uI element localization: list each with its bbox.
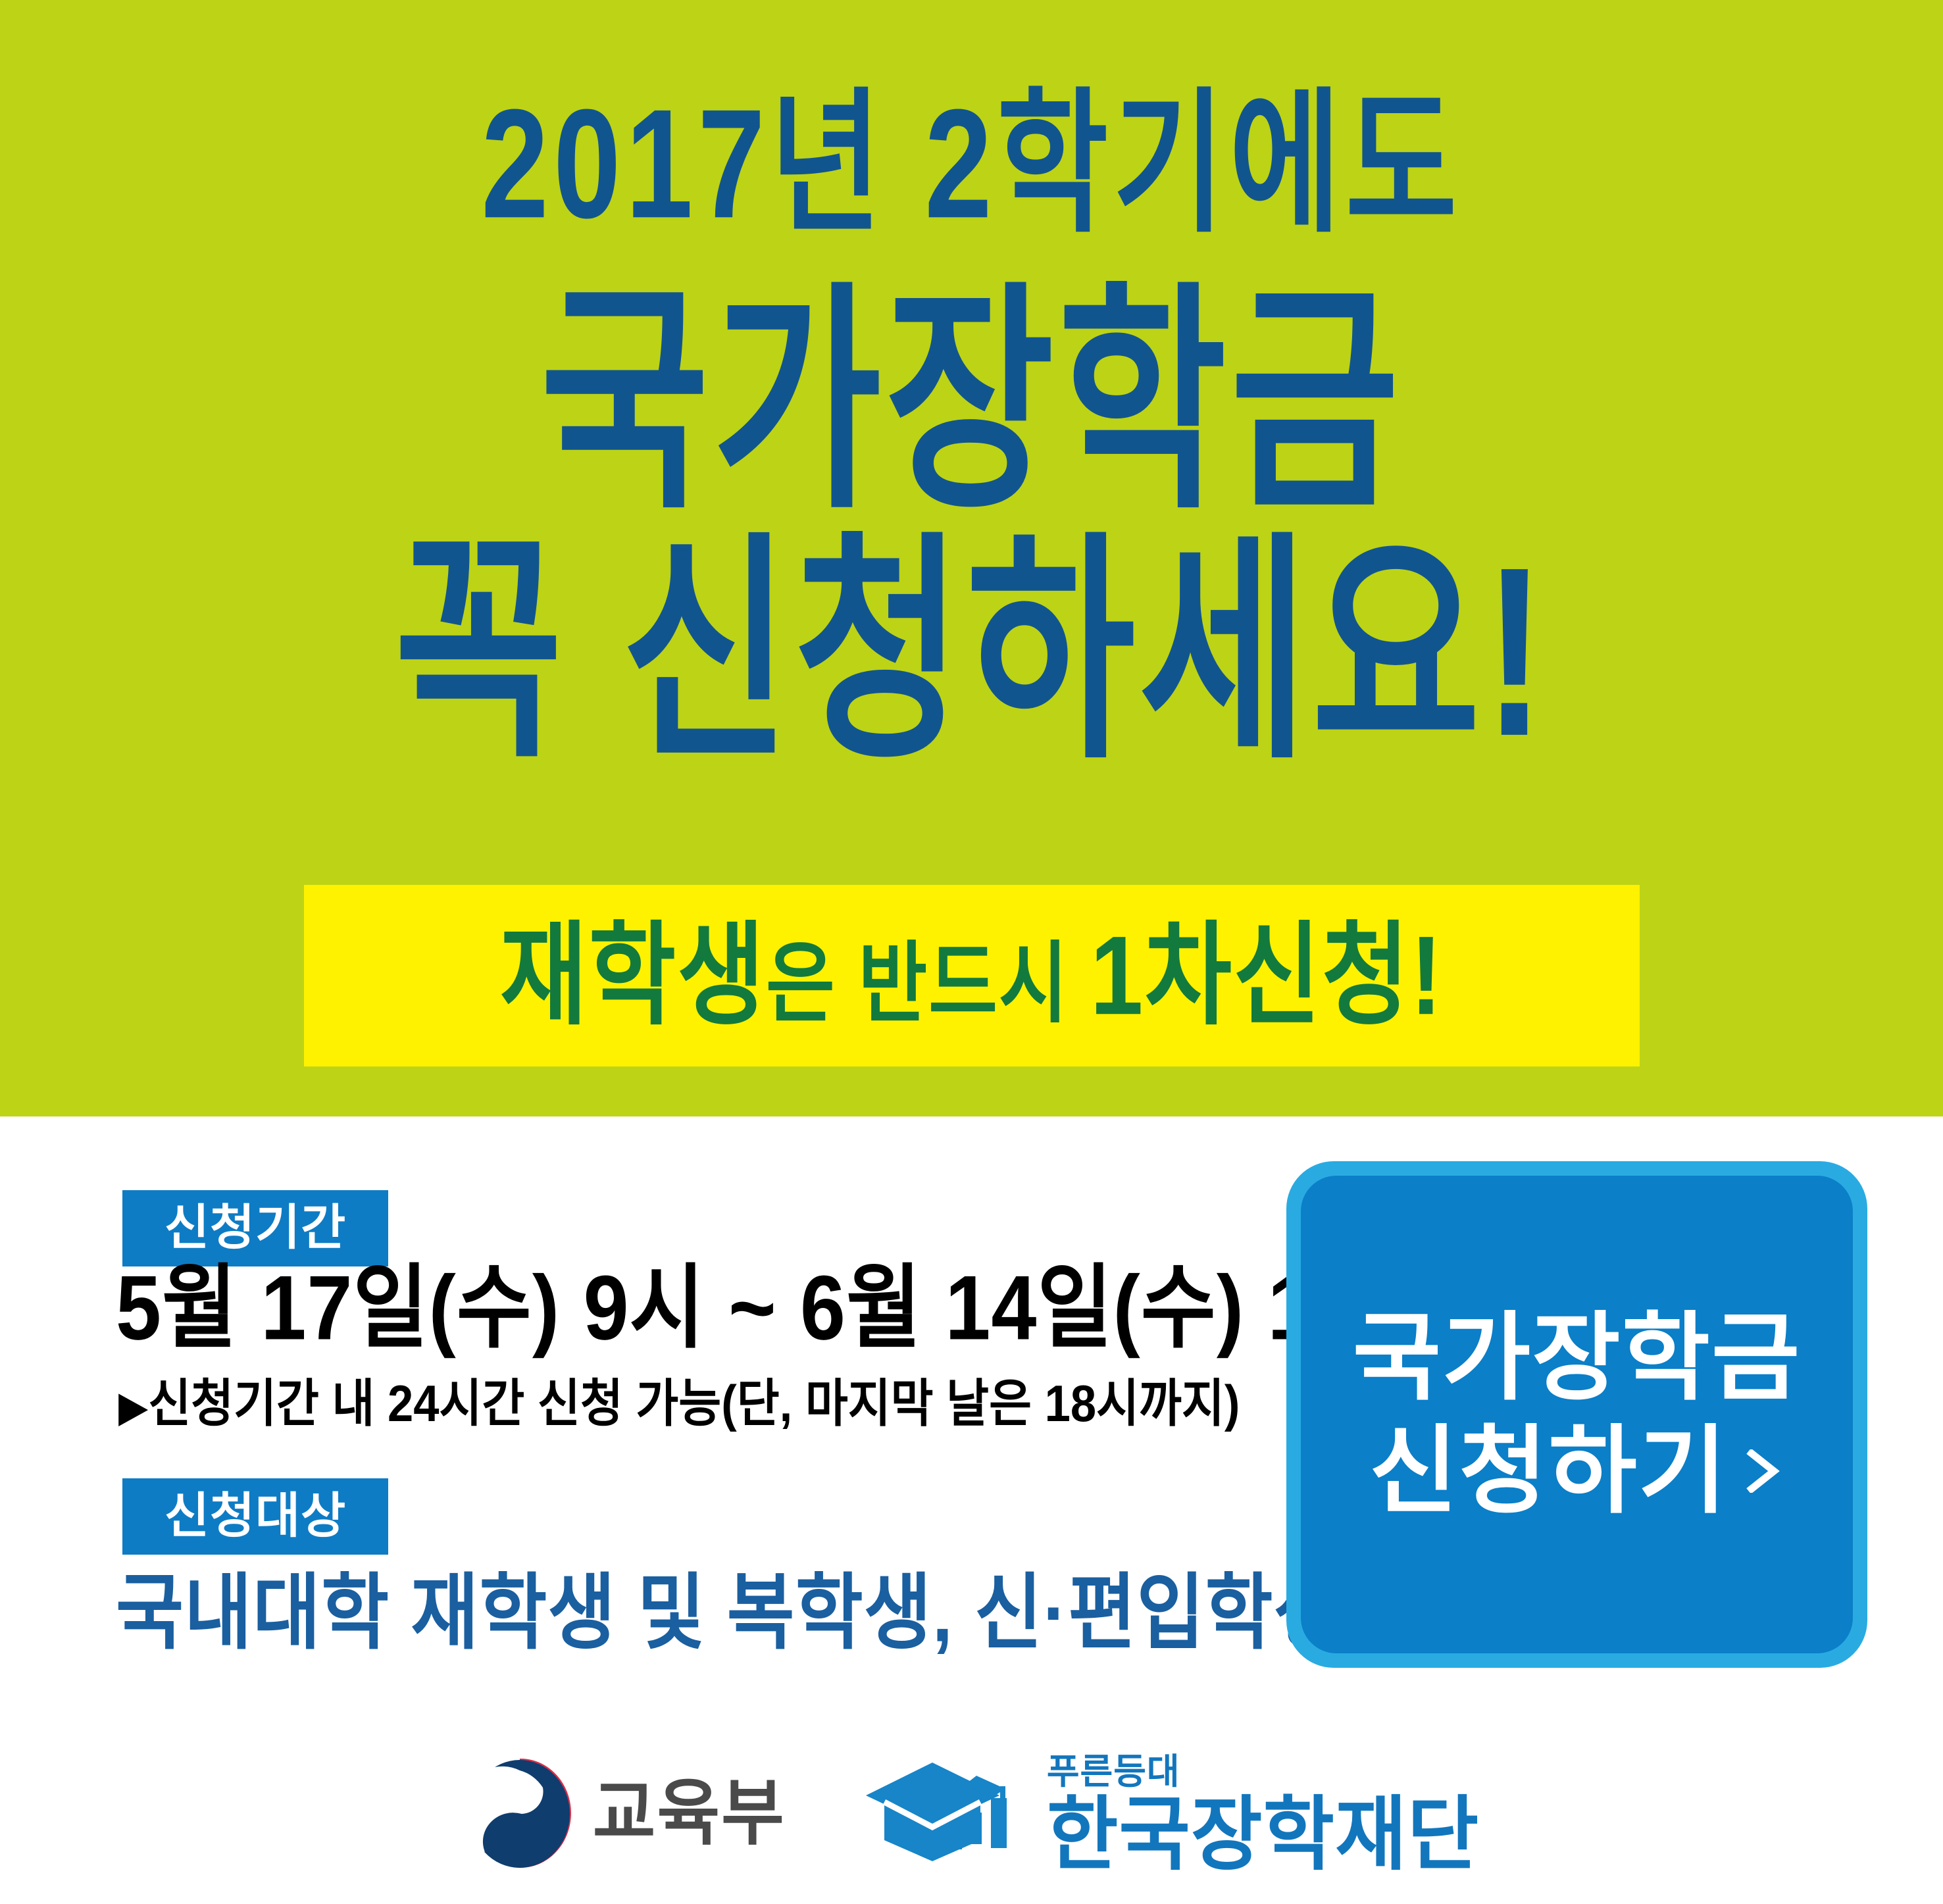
highlight-text: 재학생 은 반드시 1차신청! xyxy=(500,920,1444,1032)
kosaf-wordmark: 푸른등대 한국장학재단 xyxy=(1047,1754,1479,1874)
application-period-note-text: 신청기간 내 24시간 신청 가능(단, 마지막 날은 18시까지) xyxy=(148,1376,1240,1432)
kosaf-sub-name: 푸른등대 xyxy=(1047,1754,1180,1790)
apply-button-line2: 신청하기 xyxy=(1369,1415,1728,1528)
hero-title-line1: 국가장학금 xyxy=(68,281,1875,522)
apply-scholarship-button[interactable]: 국가장학금 신청하기 xyxy=(1286,1161,1867,1668)
bullet-arrow-icon: ▶ xyxy=(118,1382,148,1430)
korea-government-taegeuk-icon xyxy=(464,1753,576,1875)
highlight-part1: 재학생 xyxy=(500,920,766,1032)
highlight-part2: 은 반드시 xyxy=(766,939,1069,1028)
graduation-cap-icon xyxy=(865,1761,1026,1866)
hero-section: 2017년 2학기에도 국가장학금 꼭 신청하세요! 재학생 은 반드시 1차신… xyxy=(0,0,1943,1116)
kosaf-logo: 푸른등대 한국장학재단 xyxy=(865,1754,1479,1874)
application-period-value: 5월 17일(수) 9시 ~ 6월 14일(수) 18시 xyxy=(116,1263,1436,1354)
ministry-of-education-name: 교육부 xyxy=(593,1778,786,1849)
application-target-tag: 신청대상 xyxy=(122,1478,388,1555)
scholarship-banner: 2017년 2학기에도 국가장학금 꼭 신청하세요! 재학생 은 반드시 1차신… xyxy=(0,0,1943,1904)
chevron-right-icon xyxy=(1741,1449,1784,1493)
application-period-note: ▶신청기간 내 24시간 신청 가능(단, 마지막 날은 18시까지) xyxy=(118,1378,1240,1430)
highlight-part3: 1차신청! xyxy=(1090,920,1443,1032)
hero-kicker: 2017년 2학기에도 xyxy=(78,87,1865,242)
highlight-bar: 재학생 은 반드시 1차신청! xyxy=(304,885,1640,1066)
apply-button-line2-row: 신청하기 xyxy=(1369,1415,1784,1528)
kosaf-name: 한국장학재단 xyxy=(1047,1795,1479,1876)
ministry-of-education-logo: 교육부 xyxy=(464,1753,786,1875)
apply-button-inner[interactable]: 국가장학금 신청하기 xyxy=(1301,1176,1853,1653)
footer-logos: 교육부 xyxy=(0,1724,1943,1904)
application-period-tag: 신청기간 xyxy=(122,1190,388,1266)
application-target-value: 국내대학 재학생 및 복학생, 신·편입학생 xyxy=(116,1572,1342,1654)
apply-button-line1: 국가장학금 xyxy=(1353,1301,1802,1415)
hero-title-line2: 꼭 신청하세요! xyxy=(68,531,1875,772)
